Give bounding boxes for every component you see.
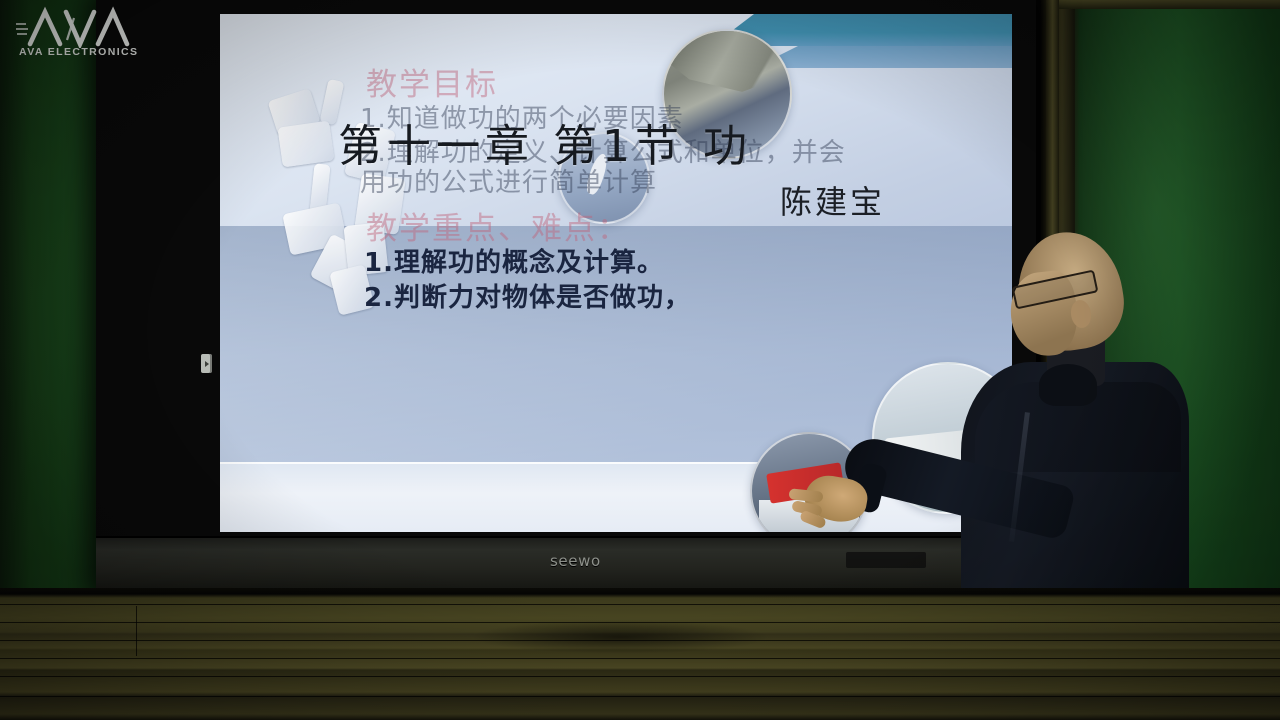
wooden-slat-desk: [0, 588, 1280, 720]
desk-panel-divider: [136, 606, 137, 656]
blackboard-frame-top: [1052, 0, 1280, 9]
slide-author: 陈建宝: [780, 177, 885, 223]
desk-slat-line: [0, 696, 1280, 697]
ava-logo-mark: [14, 6, 140, 48]
ir-receiver: [846, 552, 926, 568]
seewo-interactive-panel[interactable]: 教学目标 1.知道做功的两个必要因素 2.理解功的定义、计算公式和单位，并会 用…: [96, 0, 1036, 592]
desk-slat-line: [0, 658, 1280, 659]
desk-shadow: [470, 620, 770, 654]
desk-edge-line: [0, 604, 1280, 605]
ava-logo-text: AVA ELECTRONICS: [19, 46, 138, 58]
side-play-button-icon[interactable]: [201, 354, 212, 373]
teacher-collar: [1039, 364, 1097, 406]
desk-slat-line: [0, 676, 1280, 677]
ava-logo: AVA ELECTRONICS: [14, 6, 154, 68]
ava-logo-icon: [14, 6, 140, 48]
classroom-video-frame: 教学目标 1.知道做功的两个必要因素 2.理解功的定义、计算公式和单位，并会 用…: [0, 0, 1280, 720]
slide-title: 第十一章 第1节 功: [338, 110, 752, 174]
seewo-brand-logo: seewo: [550, 552, 601, 570]
